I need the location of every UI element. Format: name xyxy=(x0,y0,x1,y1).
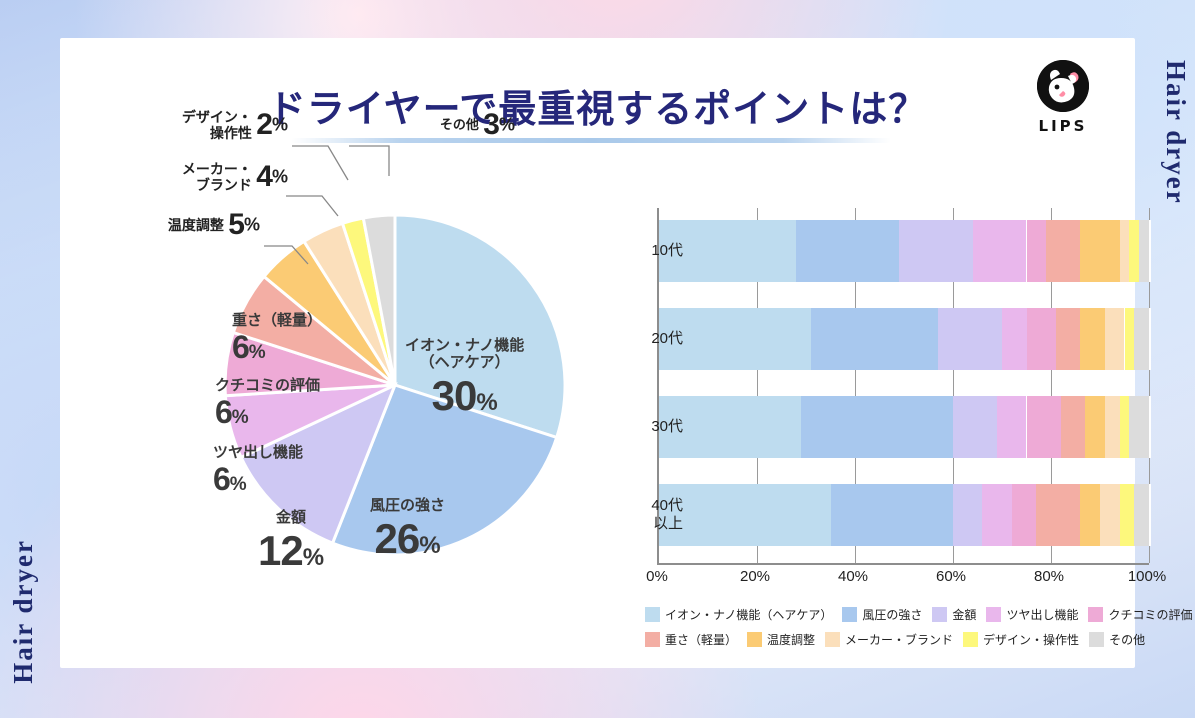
legend-label: 重さ（軽量） xyxy=(665,631,737,648)
bar-segment[interactable] xyxy=(796,220,901,282)
legend-item[interactable]: イオン・ナノ機能（ヘアケア） xyxy=(645,606,832,623)
bar-segment[interactable] xyxy=(1002,308,1029,370)
bar-segment[interactable] xyxy=(1134,308,1151,370)
bar-segment[interactable] xyxy=(811,308,940,370)
pie-label-price: 金額 12% xyxy=(258,510,324,574)
bar-row-label: 40代以上 xyxy=(651,497,683,533)
bar-segment[interactable] xyxy=(1080,308,1107,370)
side-text-left: Hair dryer xyxy=(8,539,39,684)
legend-label: その他 xyxy=(1109,631,1145,648)
bar-segment[interactable] xyxy=(1134,484,1151,546)
bar-segment[interactable] xyxy=(953,484,984,546)
legend-label: 金額 xyxy=(952,606,976,623)
bar-segment[interactable] xyxy=(1085,396,1107,458)
legend-label: クチコミの評価 xyxy=(1108,606,1192,623)
brand-logo: LIPS xyxy=(1027,60,1099,135)
bar-segment[interactable] xyxy=(801,396,955,458)
legend-swatch-icon xyxy=(825,632,840,647)
infographic-card: ドライヤーで最重視するポイントは？ LIPS xyxy=(60,38,1135,668)
legend-swatch-icon xyxy=(1088,607,1103,622)
bar-segment[interactable] xyxy=(1061,396,1088,458)
bar-segment[interactable] xyxy=(1027,308,1058,370)
legend-swatch-icon xyxy=(986,607,1001,622)
legend-label: メーカー・ブランド xyxy=(845,631,953,648)
bar-row[interactable] xyxy=(659,220,1149,282)
x-axis-tick: 80% xyxy=(1034,568,1064,585)
bar-segment[interactable] xyxy=(973,220,1029,282)
bar-segment[interactable] xyxy=(982,484,1013,546)
legend-swatch-icon xyxy=(963,632,978,647)
legend-item[interactable]: クチコミの評価 xyxy=(1088,606,1192,623)
legend-label: イオン・ナノ機能（ヘアケア） xyxy=(665,606,832,623)
x-axis-tick: 20% xyxy=(740,568,770,585)
bar-segment[interactable] xyxy=(1046,220,1082,282)
bar-row[interactable] xyxy=(659,396,1149,458)
x-axis-tick: 100% xyxy=(1128,568,1166,585)
bar-segment[interactable] xyxy=(1080,220,1121,282)
x-axis-tick: 0% xyxy=(646,568,668,585)
legend-label: ツヤ出し機能 xyxy=(1006,606,1078,623)
x-axis-tick: 40% xyxy=(838,568,868,585)
lips-dog-logo-icon xyxy=(1037,60,1089,112)
bar-segment[interactable] xyxy=(899,220,975,282)
bar-row-label: 10代 xyxy=(651,233,683,260)
legend-swatch-icon xyxy=(842,607,857,622)
bar-plot-area xyxy=(657,208,1149,565)
bar-segment[interactable] xyxy=(659,484,833,546)
chart-legend: イオン・ナノ機能（ヘアケア）風圧の強さ金額ツヤ出し機能クチコミの評価 重さ（軽量… xyxy=(645,606,1190,656)
legend-item[interactable]: デザイン・操作性 xyxy=(963,631,1079,648)
bar-segment[interactable] xyxy=(1027,396,1063,458)
legend-swatch-icon xyxy=(932,607,947,622)
bar-segment[interactable] xyxy=(1139,220,1151,282)
pie-chart: イオン・ナノ機能 （ヘアケア） 30% 風圧の強さ 26% 金額 12% ツヤ出… xyxy=(60,138,590,658)
legend-row-1: イオン・ナノ機能（ヘアケア）風圧の強さ金額ツヤ出し機能クチコミの評価 xyxy=(645,606,1190,623)
legend-label: 温度調整 xyxy=(767,631,815,648)
legend-item[interactable]: その他 xyxy=(1089,631,1145,648)
legend-swatch-icon xyxy=(1089,632,1104,647)
bar-row[interactable] xyxy=(659,308,1149,370)
legend-item[interactable]: 重さ（軽量） xyxy=(645,631,737,648)
pie-label-shine: ツヤ出し機能 6% xyxy=(213,445,303,498)
bar-row-label: 20代 xyxy=(651,321,683,348)
legend-item[interactable]: 温度調整 xyxy=(747,631,815,648)
legend-swatch-icon xyxy=(645,632,660,647)
bar-segment[interactable] xyxy=(953,396,999,458)
bar-row[interactable] xyxy=(659,484,1149,546)
bar-segment[interactable] xyxy=(997,396,1028,458)
x-axis-tick: 60% xyxy=(936,568,966,585)
pie-leader-lines xyxy=(60,98,590,398)
bar-segment[interactable] xyxy=(831,484,956,546)
legend-swatch-icon xyxy=(747,632,762,647)
bar-row-label: 30代 xyxy=(651,409,683,436)
bar-segment[interactable] xyxy=(1105,308,1127,370)
legend-item[interactable]: ツヤ出し機能 xyxy=(986,606,1078,623)
legend-item[interactable]: 風圧の強さ xyxy=(842,606,922,623)
legend-row-2: 重さ（軽量）温度調整メーカー・ブランドデザイン・操作性その他 xyxy=(645,631,1190,648)
legend-label: デザイン・操作性 xyxy=(983,631,1079,648)
bar-segment[interactable] xyxy=(938,308,1004,370)
bar-segment[interactable] xyxy=(1056,308,1083,370)
legend-item[interactable]: メーカー・ブランド xyxy=(825,631,953,648)
bar-segment[interactable] xyxy=(1129,396,1151,458)
bar-segment[interactable] xyxy=(1012,484,1039,546)
pie-label-wind: 風圧の強さ 26% xyxy=(370,498,445,562)
legend-label: 風圧の強さ xyxy=(862,606,922,623)
stacked-bar-chart: 0%20%40%60%80%100% 10代20代30代40代以上 イオン・ナノ… xyxy=(585,156,1185,656)
bar-segment[interactable] xyxy=(1036,484,1082,546)
brand-name: LIPS xyxy=(1027,117,1099,135)
legend-item[interactable]: 金額 xyxy=(932,606,976,623)
legend-swatch-icon xyxy=(645,607,660,622)
bar-segment[interactable] xyxy=(1027,220,1049,282)
bar-segment[interactable] xyxy=(1080,484,1102,546)
bar-segment[interactable] xyxy=(1100,484,1122,546)
